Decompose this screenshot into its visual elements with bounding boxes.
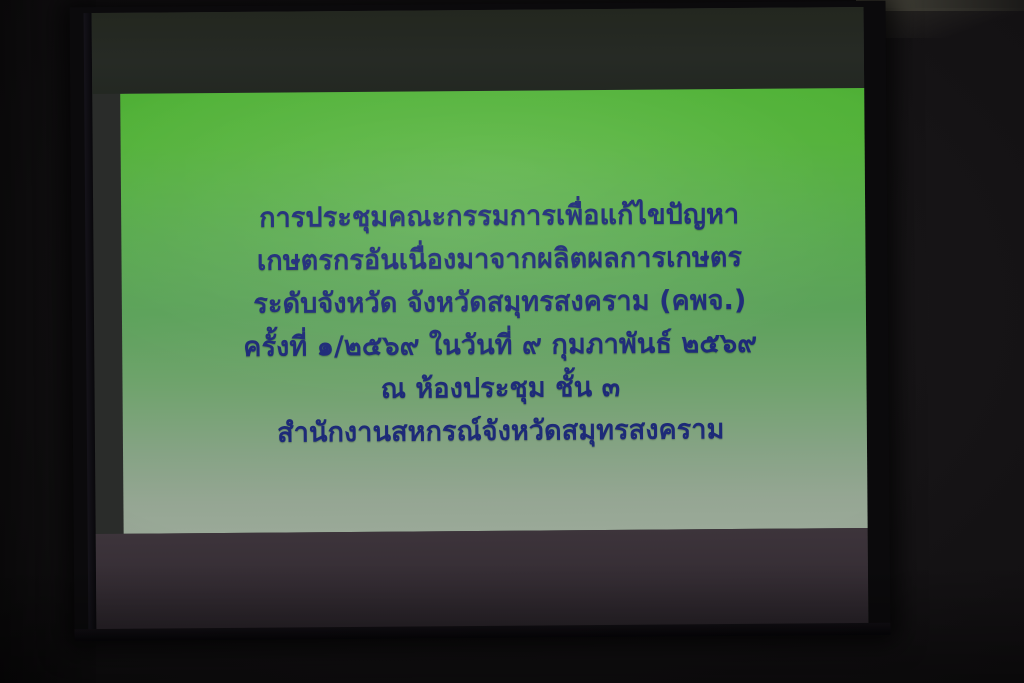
slide-line-5: ณ ห้องประชุม ชั้น ๓ — [122, 364, 868, 413]
letterbox-band-top — [92, 7, 865, 94]
slide-line-6: สำนักงานสหกรณ์จังหวัดสมุทรสงคราม — [123, 407, 869, 456]
slide-title-block: การประชุมคณะกรรมการเพื่อแก้ไขปัญหา เกษตร… — [121, 192, 868, 456]
projection-screen-surface: การประชุมคณะกรรมการเพื่อแก้ไขปัญหา เกษตร… — [92, 7, 869, 631]
slide-line-1: การประชุมคณะกรรมการเพื่อแก้ไขปัญหา — [121, 192, 868, 241]
projected-slide: การประชุมคณะกรรมการเพื่อแก้ไขปัญหา เกษตร… — [120, 88, 868, 534]
slide-line-4: ครั้งที่ ๑/๒๕๖๙ ในวันที่ ๙ กุมภาพันธ์ ๒๕… — [122, 321, 868, 370]
slide-line-2: เกษตรกรอันเนื่องมาจากผลิตผลการเกษตร — [121, 235, 868, 284]
projection-screen-frame: การประชุมคณะกรรมการเพื่อแก้ไขปัญหา เกษตร… — [70, 1, 891, 641]
room-scene: การประชุมคณะกรรมการเพื่อแก้ไขปัญหา เกษตร… — [0, 0, 1024, 683]
slide-line-3: ระดับจังหวัด จังหวัดสมุทรสงคราม (คพจ.) — [122, 278, 869, 327]
wall-bottom-shadow — [0, 563, 1024, 683]
